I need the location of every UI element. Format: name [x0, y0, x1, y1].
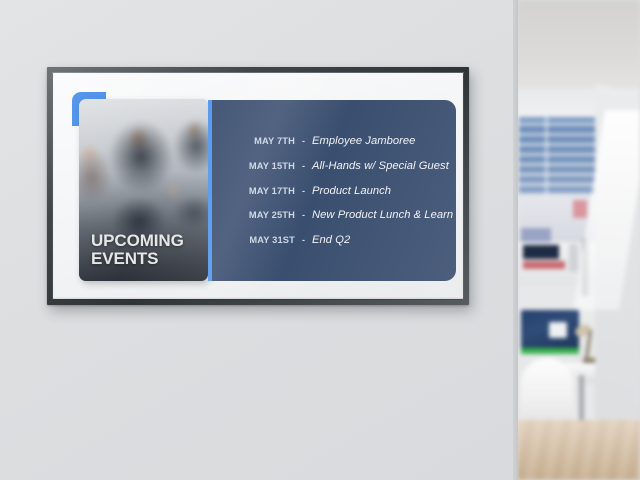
ceiling — [517, 0, 640, 96]
book-white — [569, 244, 578, 272]
event-name: Employee Jamboree — [312, 135, 415, 147]
screenshot-scene: UPCOMING EVENTS MAY 7TH-Employee Jambore… — [0, 0, 640, 480]
signage-slide: UPCOMING EVENTS MAY 7TH-Employee Jambore… — [53, 73, 463, 299]
event-name: All-Hands w/ Special Guest — [312, 160, 449, 172]
event-row: MAY 7TH-Employee Jamboree — [211, 129, 456, 154]
events-list: MAY 7TH-Employee JamboreeMAY 15TH-All-Ha… — [211, 100, 456, 281]
event-row: MAY 17TH-Product Launch — [211, 178, 456, 203]
blue-accent-bar — [208, 100, 212, 281]
picture-frame: UPCOMING EVENTS MAY 7TH-Employee Jambore… — [47, 67, 469, 305]
monitor-window — [549, 322, 567, 338]
event-name: End Q2 — [312, 234, 350, 246]
white-chair — [521, 358, 573, 428]
office-background — [517, 0, 640, 480]
event-name: Product Launch — [312, 185, 391, 197]
frame-mat: UPCOMING EVENTS MAY 7TH-Employee Jambore… — [53, 73, 463, 299]
wall-corner-edge — [513, 0, 518, 480]
event-separator: - — [295, 210, 312, 220]
event-row: MAY 31ST-End Q2 — [211, 228, 456, 253]
floor-shading — [517, 420, 640, 480]
event-date: MAY 17TH — [211, 186, 295, 196]
slide-title-line1: UPCOMING — [91, 231, 184, 250]
city-red-building — [573, 200, 587, 218]
event-date: MAY 25TH — [211, 210, 295, 220]
event-date: MAY 7TH — [211, 136, 295, 146]
event-separator: - — [295, 161, 312, 171]
event-separator: - — [295, 186, 312, 196]
event-date: MAY 31ST — [211, 235, 295, 245]
event-photo: UPCOMING EVENTS — [79, 99, 208, 281]
event-separator: - — [295, 136, 312, 146]
event-row: MAY 25TH-New Product Lunch & Learn — [211, 203, 456, 228]
slide-title: UPCOMING EVENTS — [91, 232, 184, 267]
monitor-green-strip — [521, 348, 579, 354]
book-dark — [523, 245, 559, 259]
event-separator: - — [295, 235, 312, 245]
slide-title-line2: EVENTS — [91, 250, 184, 267]
events-panel: MAY 7TH-Employee JamboreeMAY 15TH-All-Ha… — [211, 100, 456, 281]
event-name: New Product Lunch & Learn — [312, 209, 453, 221]
book-red — [523, 261, 565, 269]
event-date: MAY 15TH — [211, 161, 295, 171]
event-row: MAY 15TH-All-Hands w/ Special Guest — [211, 153, 456, 178]
